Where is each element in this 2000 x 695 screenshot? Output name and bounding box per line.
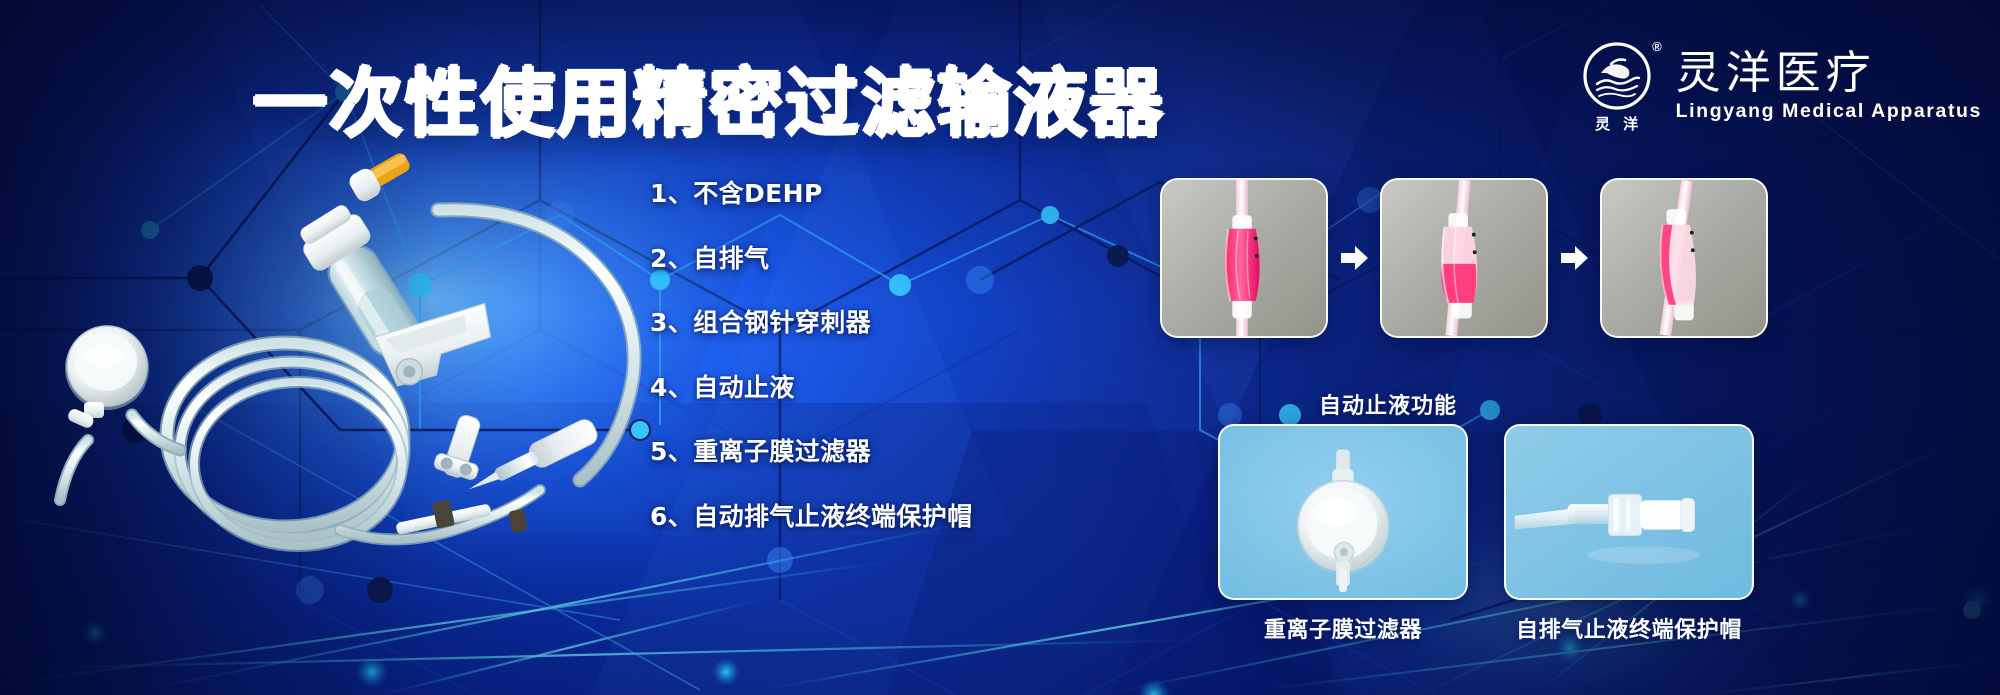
product-panels [1218, 424, 1754, 600]
iv-infusion-set-photo [40, 150, 660, 550]
logo-wordmark: 灵洋医疗 Lingyang Medical Apparatus [1676, 49, 1982, 123]
banner-title: 一次性使用精密过滤输液器 [253, 44, 1165, 151]
logo-emblem-icon: ® [1581, 40, 1653, 112]
sequence-arrow-2 [1548, 241, 1600, 275]
logo-mark-caption: 灵洋 [1582, 113, 1651, 134]
feature-item-6: 6、自动排气止液终端保护帽 [650, 497, 980, 533]
auto-stop-caption: 自动止液功能 [1164, 388, 1612, 420]
sequence-arrow-1 [1328, 241, 1380, 275]
feature-item-4: 4、自动止液 [650, 368, 980, 404]
feature-item-5: 5、重离子膜过滤器 [650, 432, 980, 468]
feature-item-3: 3、组合钢针穿刺器 [650, 303, 980, 339]
auto-vent-stop-end-cap-photo [1504, 424, 1754, 600]
drip-chamber-full-photo [1160, 178, 1328, 338]
logo-mark: ® 灵洋 [1576, 40, 1658, 132]
caption-heavy-ion-membrane-filter: 重离子膜过滤器 [1218, 612, 1468, 644]
company-logo: ® 灵洋 灵洋医疗 Lingyang Medical Apparatus [1576, 40, 1982, 132]
registered-trademark-icon: ® [1652, 39, 1662, 54]
caption-auto-vent-stop-end-cap: 自排气止液终端保护帽 [1504, 612, 1754, 644]
auto-stop-sequence [1160, 178, 1768, 338]
heavy-ion-membrane-filter-photo [1218, 424, 1468, 600]
drip-chamber-empty-photo [1600, 178, 1768, 338]
feature-item-2: 2、自排气 [650, 239, 980, 275]
drip-chamber-partial-photo [1380, 178, 1548, 338]
product-banner: 一次性使用精密过滤输液器 ® 灵洋 灵洋医疗 Lingyang Medical … [0, 0, 2000, 695]
product-panel-captions: 重离子膜过滤器 自排气止液终端保护帽 [1218, 612, 1754, 644]
company-name-en: Lingyang Medical Apparatus [1676, 100, 1982, 123]
company-name-cn: 灵洋医疗 [1676, 49, 1982, 96]
feature-item-1: 1、不含DEHP [650, 174, 980, 210]
feature-list: 1、不含DEHP 2、自排气 3、组合钢针穿刺器 4、自动止液 5、重离子膜过滤… [650, 174, 980, 561]
